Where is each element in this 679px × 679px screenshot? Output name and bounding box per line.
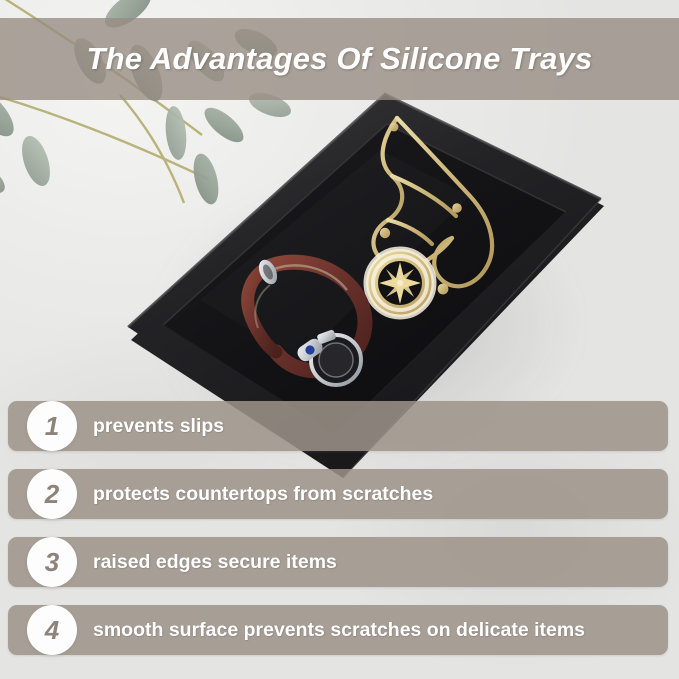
advantage-text-1: prevents slips <box>93 415 224 438</box>
number-badge-label-4: 4 <box>45 617 59 643</box>
number-badge-2: 2 <box>27 469 77 519</box>
advantage-text-2: protects countertops from scratches <box>93 483 433 506</box>
star-pendant <box>366 249 434 317</box>
advantage-bar-3: raised edges secure items <box>8 537 668 587</box>
page-title: The Advantages Of Silicone Trays <box>86 41 592 77</box>
advantage-bar-2: protects countertops from scratches <box>8 469 668 519</box>
advantage-bar-4: smooth surface prevents scratches on del… <box>8 605 668 655</box>
list-item: smooth surface prevents scratches on del… <box>0 605 679 655</box>
advantage-text-3: raised edges secure items <box>93 551 337 574</box>
list-item: raised edges secure items 3 <box>0 537 679 587</box>
number-badge-1: 1 <box>27 401 77 451</box>
number-badge-4: 4 <box>27 605 77 655</box>
number-badge-label-2: 2 <box>45 481 59 507</box>
list-item: prevents slips 1 <box>0 401 679 451</box>
advantage-text-4: smooth surface prevents scratches on del… <box>93 619 585 642</box>
infographic-poster: The Advantages Of Silicone Trays prevent… <box>0 0 679 679</box>
list-item: protects countertops from scratches 2 <box>0 469 679 519</box>
number-badge-label-3: 3 <box>45 549 59 575</box>
number-badge-3: 3 <box>27 537 77 587</box>
advantages-list: prevents slips 1 protects countertops fr… <box>0 401 679 673</box>
title-banner: The Advantages Of Silicone Trays <box>0 18 679 100</box>
number-badge-label-1: 1 <box>45 413 59 439</box>
advantage-bar-1: prevents slips <box>8 401 668 451</box>
